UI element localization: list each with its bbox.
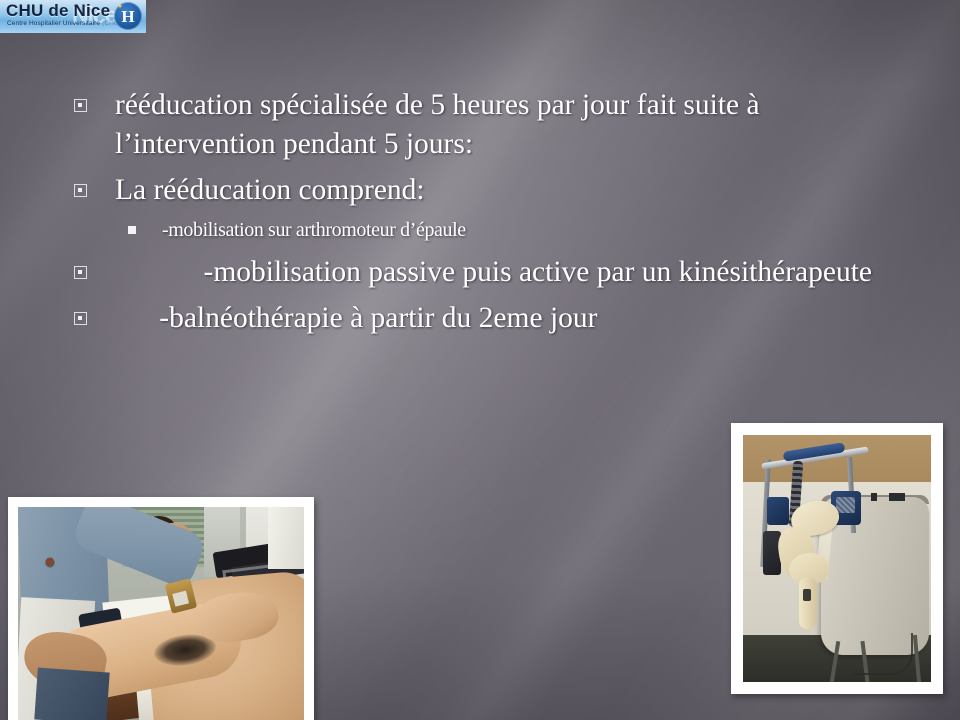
chu-de-nice-logo: Nice CHU de Nice Centre Hospitalier Univ… [0, 0, 146, 33]
photo-device-knobs [855, 493, 905, 501]
photo-kinesitherapie-image [18, 507, 304, 720]
sub-bullet-marker-icon [128, 226, 136, 234]
bullet-item-2: La rééducation comprend: [70, 171, 915, 210]
bullet-marker-icon [74, 312, 87, 325]
photo-device-handgrip [799, 577, 817, 629]
bullet-indent-4 [115, 256, 204, 288]
bullet-text-1: rééducation spécialisée de 5 heures par … [115, 89, 760, 160]
bullet-marker-icon [74, 184, 87, 197]
photo-wall-upper [743, 435, 931, 482]
hospital-emblem-icon: H [114, 2, 142, 30]
photo-device-cable [853, 633, 913, 675]
photo-device-clamp-upper [767, 497, 789, 525]
photo-jeans [34, 668, 109, 720]
slide-body: rééducation spécialisée de 5 heures par … [70, 86, 915, 345]
photo-coat-button [45, 557, 54, 566]
bullet-marker-icon [74, 266, 87, 279]
logo-subtitle: Centre Hospitalier Universitaire (CHU) [7, 20, 121, 28]
bullet-item-1: rééducation spécialisée de 5 heures par … [70, 86, 915, 164]
slide: Nice CHU de Nice Centre Hospitalier Univ… [0, 0, 960, 720]
bullet-marker-icon [74, 99, 87, 112]
photo-arthromoteur-image [743, 435, 931, 682]
photo-arthromoteur [731, 423, 943, 694]
photo-white-coat-right [268, 507, 304, 569]
bullet-text-5: -balnéothérapie à partir du 2eme jour [159, 302, 597, 334]
bullet-indent-5 [115, 302, 159, 334]
logo-title: CHU de Nice [6, 1, 110, 20]
bullet-text-3: -mobilisation sur arthromoteur d’épaule [162, 219, 466, 241]
bullet-text-2: La rééducation comprend: [115, 174, 425, 206]
bullet-item-5: -balnéothérapie à partir du 2eme jour [70, 299, 915, 338]
bullet-item-3: -mobilisation sur arthromoteur d’épaule [70, 217, 915, 244]
emblem-letter: H [121, 8, 134, 25]
bullet-item-4: -mobilisation passive puis active par un… [70, 253, 915, 292]
photo-kinesitherapie [8, 497, 314, 720]
bullet-text-4: -mobilisation passive puis active par un… [204, 256, 873, 288]
logo-subtitle-main: Centre Hospitalier Universitaire [7, 20, 100, 27]
